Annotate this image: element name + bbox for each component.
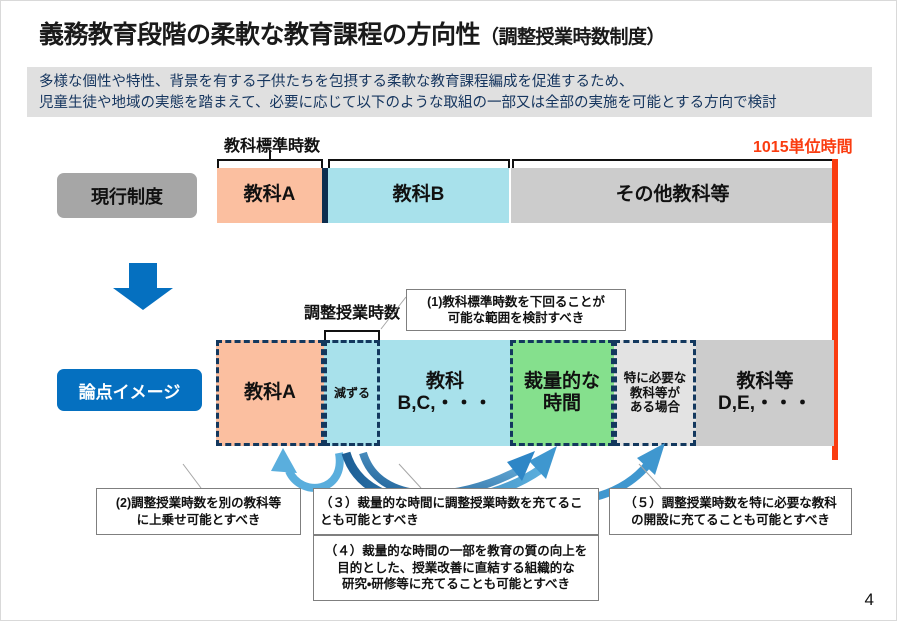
page-title: 義務教育段階の柔軟な教育課程の方向性（調整授業時数制度） [39,15,859,51]
lead-line-1: 多様な個性や特性、背景を有する子供たちを包摂する柔軟な教育課程編成を促進するため… [39,72,862,93]
page-number: 4 [865,590,874,610]
callout-note-5: （５）調整授業時数を特に必要な教科 の開設に充てることも可能とすべき [609,488,852,535]
leader-line-note2 [183,464,201,488]
bracket-other-subjects [512,159,836,168]
bar-segment-proposal-discretionary-time: 裁量的な 時間 [510,340,614,446]
down-arrow-icon [109,263,177,311]
note-2-line-1: (2)調整授業時数を別の教科等 [103,495,294,512]
subjects-de-line-1: 教科等 [718,371,812,393]
bar-segment-proposal-reduce: 減ずる [324,340,380,446]
bar-segment-current-subject-b: 教科B [328,168,509,223]
callout-note-1: (1)教科標準時数を下回ることが 可能な範囲を検討すべき [406,289,626,331]
special-need-line-2: 教科等が [624,386,687,401]
discretionary-line-2: 時間 [524,393,600,415]
row-label-current-system: 現行制度 [57,173,197,218]
bar-segment-current-subject-a: 教科A [217,168,322,223]
discretionary-line-1: 裁量的な [524,371,600,393]
bar-segment-proposal-special-need: 特に必要な 教科等が ある場合 [614,340,696,446]
bar-segment-current-other-subjects: その他教科等 [511,168,834,223]
note-1-line-1: (1)教科標準時数を下回ることが [413,294,619,311]
special-need-line-3: ある場合 [624,400,687,415]
note-2-line-2: に上乗せ可能とすべき [103,512,294,529]
note-5-line-2: の開設に充てることも可能とすべき [616,512,845,529]
bracket-label-subject-standard-hours: 教科標準時数 [207,132,337,156]
note-5-line-1: （５）調整授業時数を特に必要な教科 [616,495,845,512]
note-1-line-2: 可能な範囲を検討すべき [413,310,619,327]
bar-segment-proposal-subjects-de: 教科等 D,E,・・・ [696,340,834,446]
note-4-line-3: 研究・研修等に充てることも可能とすべき [320,576,592,593]
leader-line-note5 [639,464,661,488]
leader-line-note3 [399,464,421,488]
bracket-subject-a [217,159,323,168]
callout-note-2: (2)調整授業時数を別の教科等 に上乗せ可能とすべき [96,488,301,535]
special-need-line-1: 特に必要な [624,371,687,386]
lead-line-2: 児童生徒や地域の実態を踏まえて、必要に応じて以下のような取組の一部又は全部の実施… [39,93,862,114]
lead-description-box: 多様な個性や特性、背景を有する子供たちを包摂する柔軟な教育課程編成を促進するため… [27,67,872,117]
bar-segment-proposal-subject-a: 教科A [216,340,324,446]
bracket-adjustment-hours [324,330,380,340]
note-4-line-2: 目的とした、授業改善に直結する組織的な [320,560,592,577]
page-title-paren: （調整授業時数制度） [480,27,665,48]
page-title-main: 義務教育段階の柔軟な教育課程の方向性 [39,21,480,49]
callout-note-4: （４）裁量的な時間の一部を教育の質の向上を 目的とした、授業改善に直結する組織的… [313,535,599,601]
bar-segment-proposal-subjects-bcd: 教科B,C,・・・ [380,340,510,446]
slide-canvas: 義務教育段階の柔軟な教育課程の方向性（調整授業時数制度） 多様な個性や特性、背景… [0,0,897,621]
total-hours-label: 1015単位時間 [753,133,853,157]
callout-note-3: （３）裁量的な時間に調整授業時数を充てるこ とも可能とすべき [313,488,599,535]
note-3-line-1: （３）裁量的な時間に調整授業時数を充てるこ [320,495,592,512]
row-label-proposal-image: 論点イメージ [57,369,202,411]
bracket-subject-b [328,159,510,168]
subjects-de-line-2: D,E,・・・ [718,393,812,415]
note-3-line-2: とも可能とすべき [320,512,592,529]
note-4-line-1: （４）裁量的な時間の一部を教育の質の向上を [320,543,592,560]
arrow-note2 [271,448,340,488]
